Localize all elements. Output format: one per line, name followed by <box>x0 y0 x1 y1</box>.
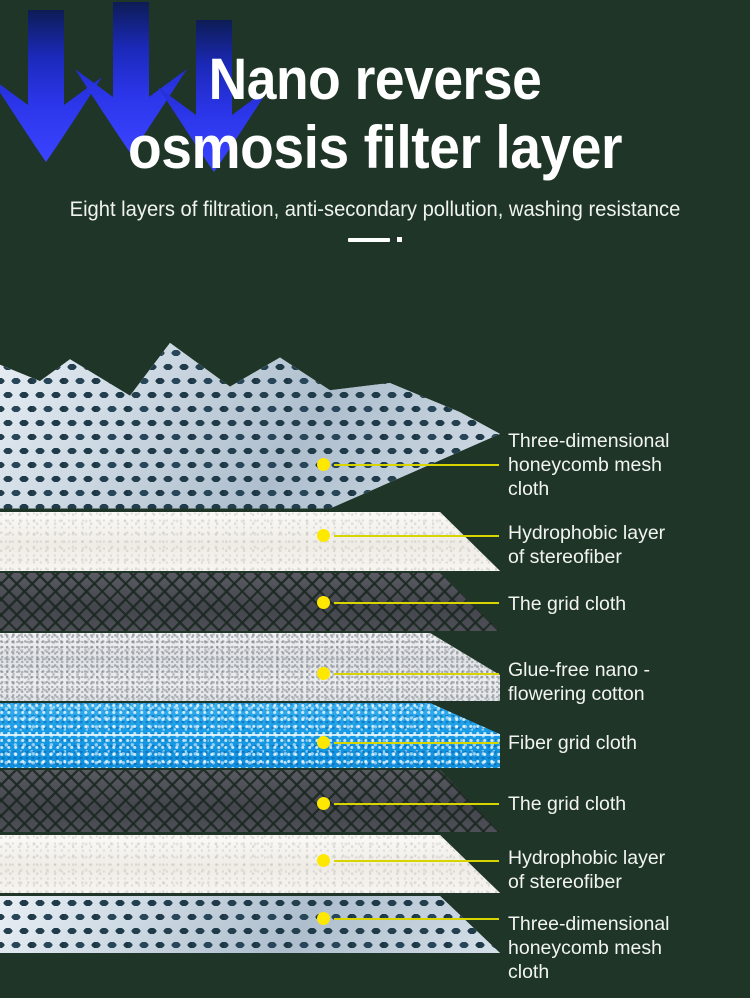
callout-dot-7 <box>317 854 330 867</box>
callout-line-3 <box>334 602 499 604</box>
callout-line-2 <box>334 535 499 537</box>
callout-label-1: Three-dimensional honeycomb mesh cloth <box>508 429 740 501</box>
callout-label-6: The grid cloth <box>508 792 740 816</box>
callout-label-7: Hydrophobic layer of stereofiber <box>508 846 740 894</box>
callout-group: Three-dimensional honeycomb mesh cloth H… <box>0 0 750 998</box>
callout-label-4: Glue-free nano - flowering cotton <box>508 658 740 706</box>
callout-dot-4 <box>317 667 330 680</box>
callout-dot-6 <box>317 797 330 810</box>
callout-dot-8 <box>317 912 330 925</box>
callout-label-8: Three-dimensional honeycomb mesh cloth <box>508 912 740 984</box>
callout-dot-5 <box>317 736 330 749</box>
filter-layer-infographic: Nano reverse osmosis filter layer Eight … <box>0 0 750 998</box>
callout-line-7 <box>334 860 499 862</box>
callout-label-2: Hydrophobic layer of stereofiber <box>508 521 740 569</box>
callout-dot-2 <box>317 529 330 542</box>
callout-label-5: Fiber grid cloth <box>508 731 740 755</box>
callout-line-8 <box>334 918 499 920</box>
callout-label-3: The grid cloth <box>508 592 740 616</box>
callout-line-4 <box>334 673 499 675</box>
callout-line-5 <box>334 742 499 744</box>
callout-dot-1 <box>317 458 330 471</box>
callout-dot-3 <box>317 596 330 609</box>
callout-line-1 <box>334 464 499 466</box>
callout-line-6 <box>334 803 499 805</box>
